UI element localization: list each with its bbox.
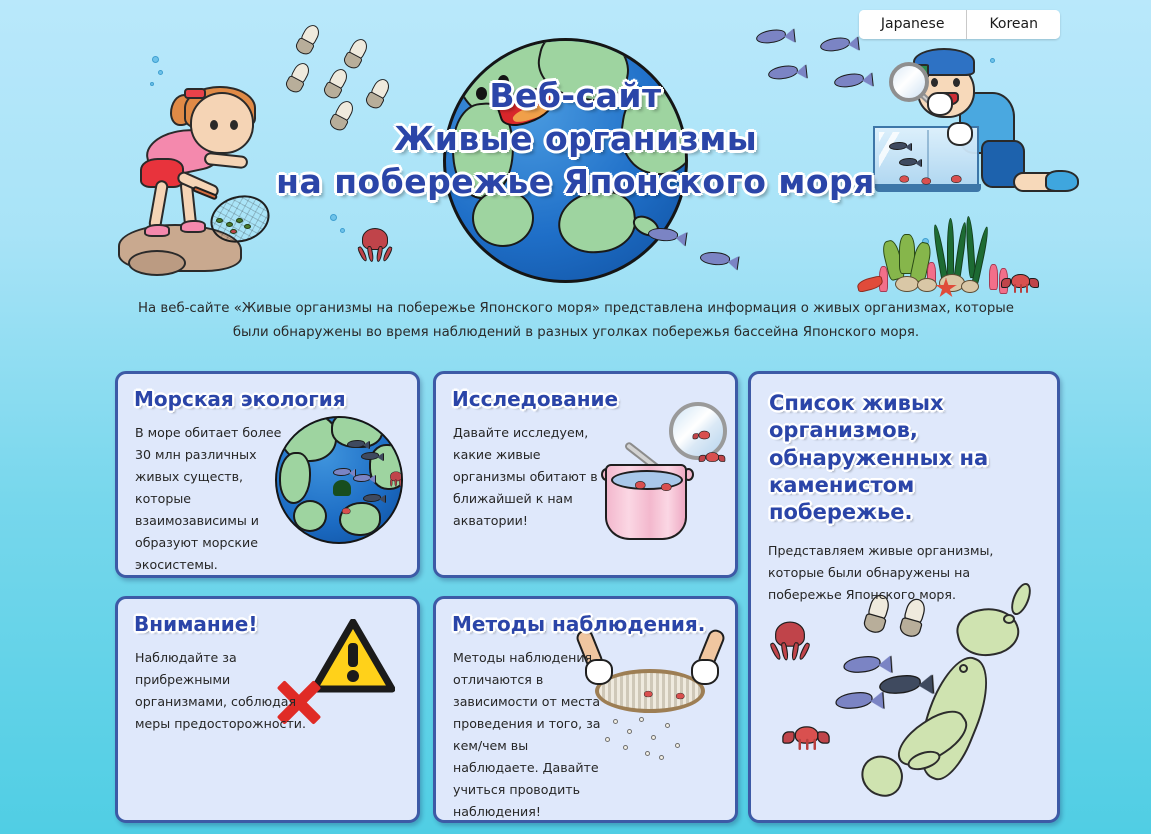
card-body: Методы наблюдения отличаются в зависимос… <box>453 647 611 823</box>
octopus-decoration <box>358 228 392 262</box>
card-title: Морская экология <box>134 387 417 411</box>
card-body: В море обитает более 30 млн различных жи… <box>135 422 283 576</box>
card-research[interactable]: Исследование Давайте исследуем, какие жи… <box>433 371 738 578</box>
fish-decoration <box>699 250 731 267</box>
card-body: Давайте исследуем, какие живые организмы… <box>453 422 601 532</box>
card-observation-methods[interactable]: Методы наблюдения. Методы наблюдения отл… <box>433 596 738 823</box>
japan-map-with-creatures-icon <box>751 570 1060 820</box>
language-button-japanese[interactable]: Japanese <box>859 10 967 39</box>
card-marine-ecology[interactable]: Морская экология В море обитает более 30… <box>115 371 420 578</box>
boy-with-magnifier-illustration <box>873 48 1069 232</box>
seabed-decoration <box>853 212 1063 300</box>
bucket-with-magnifier-icon <box>579 402 727 552</box>
card-warning[interactable]: Внимание! Наблюдайте за прибрежными орга… <box>115 596 420 823</box>
cards-grid: Морская экология В море обитает более 30… <box>115 371 1060 823</box>
girl-with-net-illustration <box>118 92 308 272</box>
card-title: Список живых организмов, обнаруженных на… <box>769 390 1057 526</box>
card-title: Внимание! <box>134 612 417 636</box>
language-button-korean[interactable]: Korean <box>966 10 1060 39</box>
earth-with-sea-life-icon <box>275 416 403 544</box>
card-organism-list[interactable]: Список живых организмов, обнаруженных на… <box>748 371 1060 823</box>
card-body: Представляем живые организмы, которые бы… <box>768 540 1030 606</box>
card-title: Методы наблюдения. <box>452 612 735 636</box>
hero-banner: Веб-сайт Живые организмы на побережье Яп… <box>0 0 1151 300</box>
card-body: Наблюдайте за прибрежными организмами, с… <box>135 647 315 735</box>
card-title: Исследование <box>452 387 735 411</box>
language-switcher[interactable]: Japanese Korean <box>859 10 1060 39</box>
intro-paragraph: На веб-сайте «Живые организмы на побереж… <box>120 297 1032 345</box>
earth-globe-icon <box>443 38 688 283</box>
